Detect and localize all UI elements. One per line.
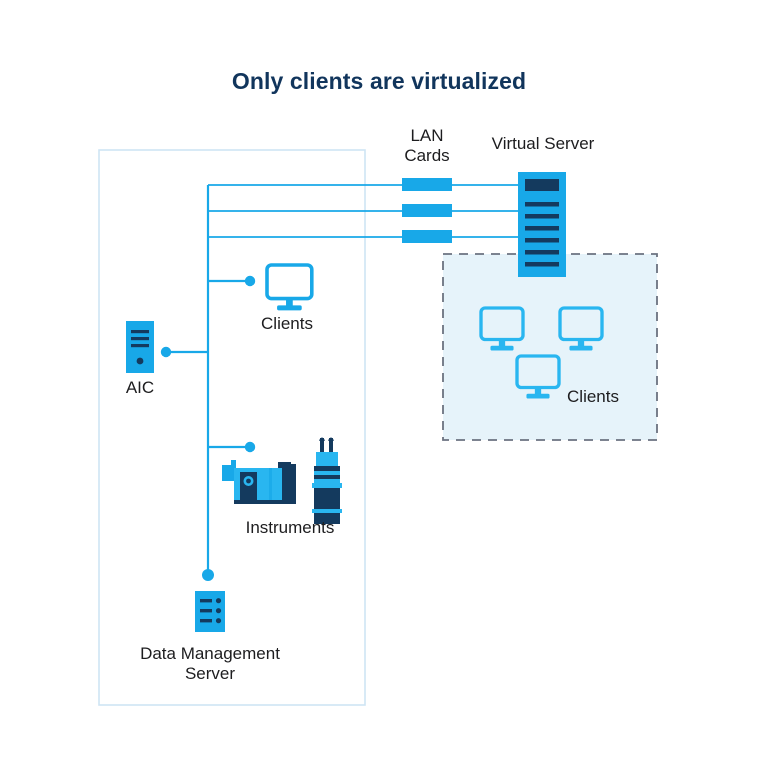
lan-card-3 [402,230,452,243]
link-dms-node [202,569,214,581]
aic-server-icon [126,321,154,373]
data-management-server-label: Data Management Server [110,644,310,684]
lan-card-2 [402,204,452,217]
diagram-canvas: Only clients are virtualized [0,0,758,780]
client-monitor-icon [267,265,312,310]
lan-card-1 [402,178,452,191]
left-panel-box [99,150,365,705]
data-management-server-icon [195,591,225,632]
instrument-column-icon [312,438,342,524]
link-instruments-node [245,442,255,452]
virtual-server-icon [518,172,566,277]
link-clients-node [245,276,255,286]
link-aic-node [161,347,171,357]
clients-left-label: Clients [237,314,337,334]
aic-label: AIC [100,378,180,398]
virtual-server-label: Virtual Server [457,134,629,154]
instrument-chromatograph-icon [222,460,296,504]
virtual-zone-box [443,254,657,440]
clients-virtual-label: Clients [543,387,643,407]
instruments-label: Instruments [210,518,370,538]
